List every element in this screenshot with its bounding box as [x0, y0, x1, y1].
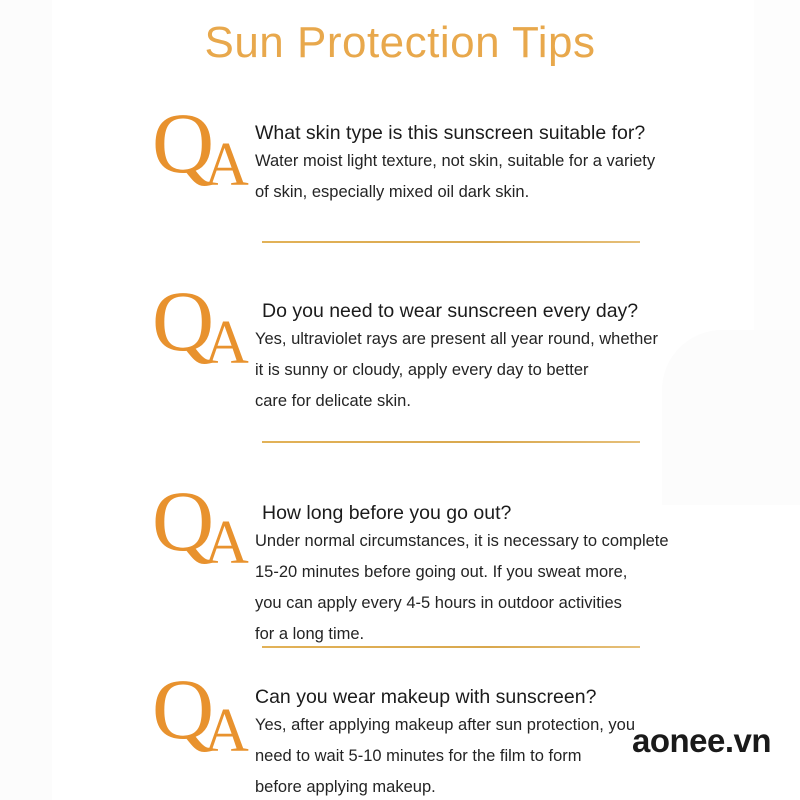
infographic-page: Sun Protection Tips Q A What skin type i… [0, 0, 800, 800]
qa-monogram: Q A [152, 108, 252, 208]
site-watermark: aonee.vn [632, 722, 771, 760]
section-divider-1 [262, 241, 640, 243]
qa-answer-line: Under normal circumstances, it is necess… [255, 526, 705, 557]
section-divider-2 [262, 441, 640, 443]
qa-answer-line: 15-20 minutes before going out. If you s… [255, 557, 705, 588]
qa-question: Can you wear makeup with sunscreen? [255, 684, 705, 710]
letter-a-icon: A [204, 700, 249, 762]
qa-text-3: How long before you go out? Under normal… [255, 500, 705, 650]
qa-monogram: Q A [152, 486, 252, 586]
qa-answer-line: you can apply every 4-5 hours in outdoor… [255, 588, 705, 619]
qa-question: What skin type is this sunscreen suitabl… [255, 120, 705, 146]
qa-answer-line: it is sunny or cloudy, apply every day t… [255, 355, 705, 386]
qa-answer-line: Yes, ultraviolet rays are present all ye… [255, 324, 705, 355]
qa-answer-line: of skin, especially mixed oil dark skin. [255, 177, 705, 208]
letter-a-icon: A [204, 512, 249, 574]
qa-monogram: Q A [152, 674, 252, 774]
background-band-left [0, 0, 52, 800]
page-title: Sun Protection Tips [0, 18, 800, 68]
qa-answer-line: before applying makeup. [255, 772, 705, 800]
qa-question: How long before you go out? [255, 500, 705, 526]
qa-question: Do you need to wear sunscreen every day? [255, 298, 705, 324]
letter-a-icon: A [204, 134, 249, 196]
qa-answer-line: Water moist light texture, not skin, sui… [255, 146, 705, 177]
letter-a-icon: A [204, 312, 249, 374]
qa-monogram: Q A [152, 286, 252, 386]
qa-text-1: What skin type is this sunscreen suitabl… [255, 120, 705, 208]
qa-text-2: Do you need to wear sunscreen every day?… [255, 298, 705, 417]
qa-answer-line: care for delicate skin. [255, 386, 705, 417]
section-divider-3 [262, 646, 640, 648]
